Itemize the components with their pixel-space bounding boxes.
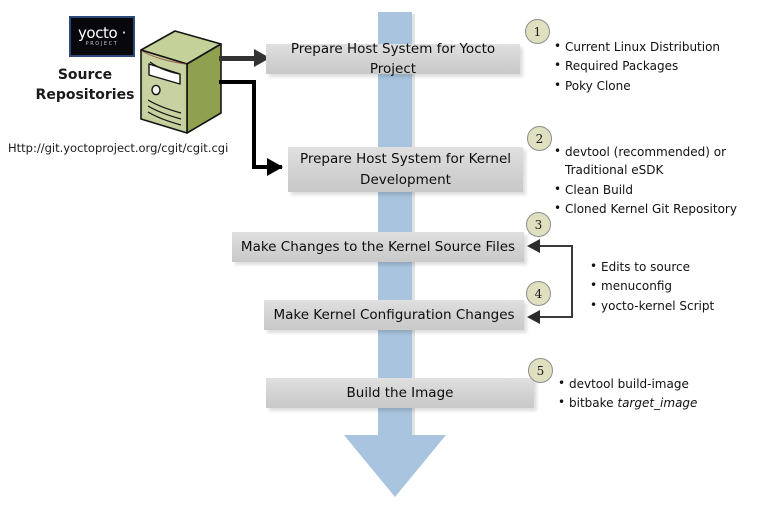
step-number-4: 4 xyxy=(526,281,551,306)
list-item: Clean Build xyxy=(565,181,752,199)
bitbake-target-image: target_image xyxy=(617,396,697,410)
feedback-arrowhead-step3-icon xyxy=(527,239,540,253)
source-repositories-label: Source Repositories xyxy=(30,65,140,106)
step-1-bullets: Current Linux Distribution Required Pack… xyxy=(552,38,762,96)
list-item: bitbake target_image xyxy=(569,394,756,412)
bitbake-command-prefix: bitbake xyxy=(569,396,617,410)
connector-server-to-step2-vertical xyxy=(252,80,256,169)
step-box-5[interactable]: Build the Image xyxy=(266,378,534,408)
feedback-bracket-vertical xyxy=(571,245,573,317)
flow-arrow-head-icon xyxy=(344,435,446,497)
logo-wordmark: yocto · xyxy=(78,26,126,41)
steps-3-4-bullets: Edits to source menuconfig yocto-kernel … xyxy=(588,258,768,316)
source-repositories-url: Http://git.yoctoproject.org/cgit/cgit.cg… xyxy=(8,141,228,155)
logo-subtext: PROJECT xyxy=(86,42,119,47)
connector-server-to-step2-horizontal-top xyxy=(219,80,256,84)
list-item: Required Packages xyxy=(565,57,762,75)
step-number-1: 1 xyxy=(525,19,550,44)
list-item: Current Linux Distribution xyxy=(565,38,762,56)
step-box-2[interactable]: Prepare Host System for Kernel Developme… xyxy=(288,147,523,192)
step-box-1[interactable]: Prepare Host System for Yocto Project xyxy=(266,44,520,74)
step-number-5: 5 xyxy=(528,358,553,383)
list-item: Edits to source xyxy=(601,258,768,276)
list-item: menuconfig xyxy=(601,277,768,295)
step-number-3: 3 xyxy=(526,212,551,237)
feedback-arrowhead-step4-icon xyxy=(527,310,540,324)
diagram-canvas: yocto · PROJECT Source Reposi xyxy=(0,0,769,517)
step-number-2: 2 xyxy=(527,126,552,151)
step-5-bullets: devtool build-image bitbake target_image xyxy=(556,375,756,414)
step-box-4[interactable]: Make Kernel Configuration Changes xyxy=(264,300,524,330)
connector-server-to-step2-arrowhead-icon xyxy=(267,158,283,176)
yocto-project-logo: yocto · PROJECT xyxy=(69,16,135,57)
feedback-bracket-bottom xyxy=(540,316,573,318)
list-item: devtool build-image xyxy=(569,375,756,393)
feedback-bracket-top xyxy=(540,245,573,247)
step-box-3[interactable]: Make Changes to the Kernel Source Files xyxy=(232,232,524,262)
step-2-bullets: devtool (recommended) or Traditional eSD… xyxy=(552,143,752,219)
server-tower-icon xyxy=(138,28,224,136)
list-item: devtool (recommended) or Traditional eSD… xyxy=(565,143,752,180)
list-item: yocto-kernel Script xyxy=(601,297,768,315)
list-item: Cloned Kernel Git Repository xyxy=(565,200,752,218)
list-item: Poky Clone xyxy=(565,77,762,95)
